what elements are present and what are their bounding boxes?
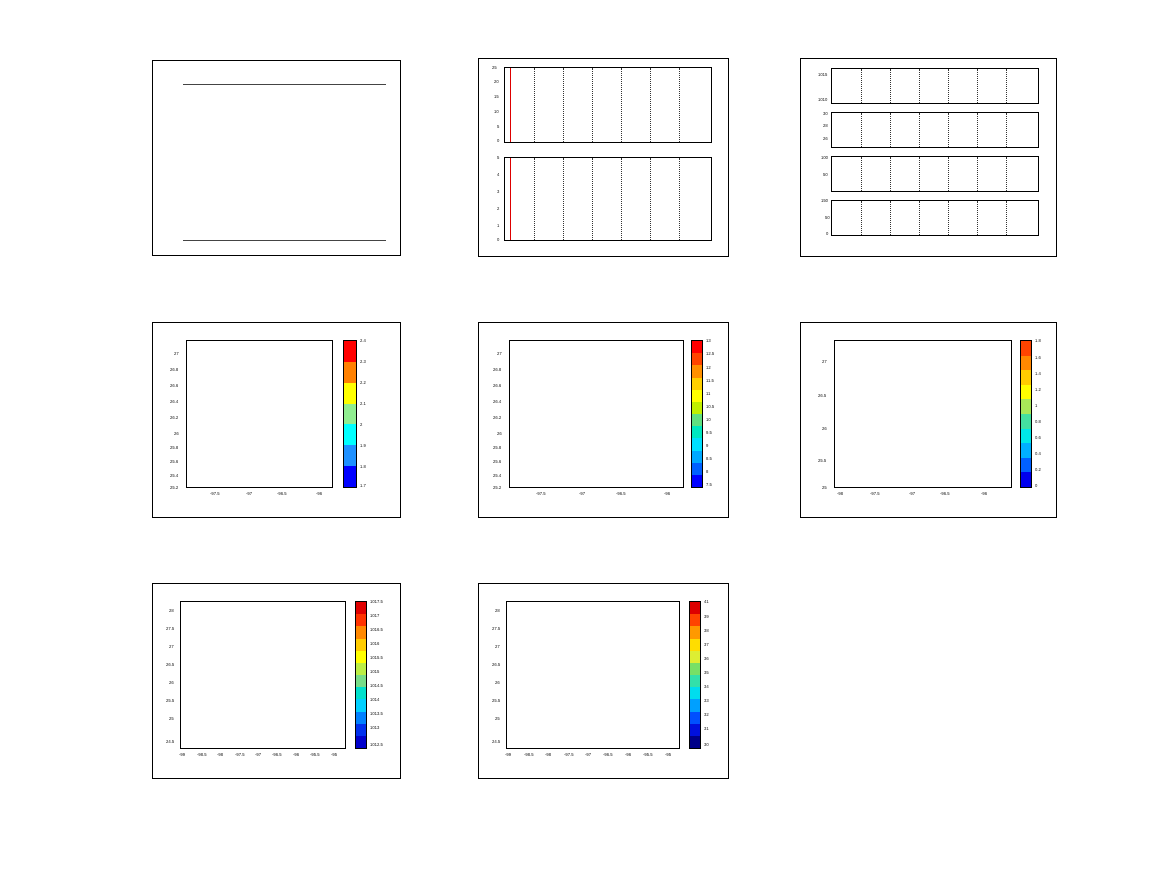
pressure-map-axes xyxy=(180,601,346,749)
current-speed-map-panel: 27 26.5 26 25.5 25 -98 -97.5 -97 -96.5 -… xyxy=(800,322,1057,518)
airtemp-map-axes xyxy=(506,601,680,749)
humidity-bars xyxy=(832,157,1038,191)
wind-wave-panel: 25 20 15 10 5 0 5 4 3 2 1 0 xyxy=(478,58,729,257)
humidity-axes xyxy=(831,156,1039,192)
air-temperature-map-panel: 28 27.5 27 26.5 26 25.5 25 24.5 -99 -98.… xyxy=(478,583,729,779)
met-day-labels-1 xyxy=(831,104,1039,111)
pressure-map-colorbar xyxy=(355,601,367,749)
temperature-bars xyxy=(832,113,1038,147)
surface-pressure-map-panel: 28 27.5 27 26.5 26 25.5 25 24.5 -99 -98.… xyxy=(152,583,401,779)
report-divider-2 xyxy=(183,240,386,241)
current-map-colorbar xyxy=(1020,340,1032,488)
pressure-axes xyxy=(831,68,1039,104)
airtemp-map-colorbar xyxy=(689,601,701,749)
met-day-labels-4 xyxy=(831,236,1039,243)
pressure-bars xyxy=(832,69,1038,103)
met-day-labels-2 xyxy=(831,148,1039,155)
wind-wave-day-labels xyxy=(504,144,712,153)
wind-map-axes xyxy=(509,340,684,488)
seastate-axes xyxy=(831,200,1039,236)
wind-speed-map-panel: 27 26.8 26.6 26.4 26.2 26 25.8 25.6 25.4… xyxy=(478,322,729,518)
seastate-bars xyxy=(832,201,1038,235)
now-line-wave xyxy=(510,158,511,240)
report-divider xyxy=(183,84,386,85)
wave-map-colorbar xyxy=(343,340,357,488)
forecast-report-panel xyxy=(152,60,401,256)
wind-speed-axes xyxy=(504,67,712,143)
met-panel: 1015 1010 30 28 26 100 50 150 50 0 xyxy=(800,58,1057,257)
wave-map-axes xyxy=(186,340,333,488)
current-map-axes xyxy=(834,340,1012,488)
temperature-axes xyxy=(831,112,1039,148)
met-day-labels-3 xyxy=(831,192,1039,199)
now-line-wind xyxy=(510,68,511,142)
wave-height-axes xyxy=(504,157,712,241)
wave-height-map-panel: 27 26.8 26.6 26.4 26.2 26 25.8 25.6 25.4… xyxy=(152,322,401,518)
wave-height-bars xyxy=(505,158,711,240)
wind-map-colorbar xyxy=(691,340,703,488)
wind-speed-bars xyxy=(505,68,711,142)
